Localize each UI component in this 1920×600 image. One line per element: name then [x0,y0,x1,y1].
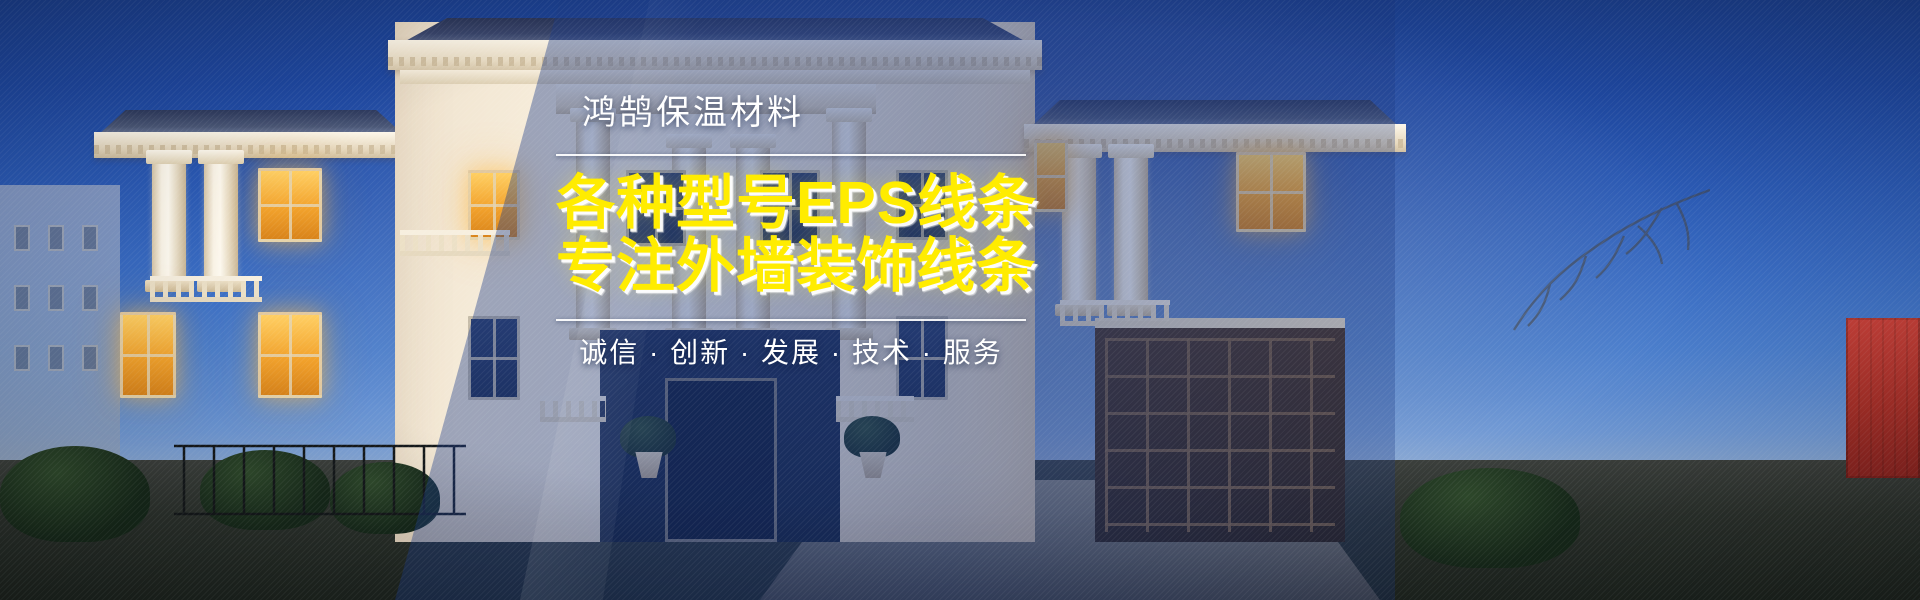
window-lit [1034,140,1068,212]
center-cornice [388,40,1042,70]
brand-name: 鸿鹄保温材料 [556,96,1026,130]
banner-copy: 鸿鹄保温材料 各种型号EPS线条 专注外墙装饰线条 诚信 · 创新 · 发展 ·… [556,96,1026,367]
column [204,162,238,282]
tagline: 诚信 · 创新 · 发展 · 技术 · 服务 [556,339,1026,367]
left-wing-roof [86,110,416,134]
tree-branch [1410,180,1710,360]
iron-fence [170,440,470,520]
planter-shrub [620,416,676,458]
divider-bottom [556,319,1026,321]
garage-door [1095,318,1345,542]
left-wing-cornice [94,132,408,158]
red-container [1846,318,1920,478]
shrub [0,446,150,542]
headline-line-2: 专注外墙装饰线条 [556,235,1026,298]
headline-line-1: 各种型号EPS线条 [556,170,1037,236]
window-lit [1236,152,1306,232]
right-wing-roof [1016,100,1414,126]
center-cornice-lower [400,70,1030,84]
window [468,316,520,400]
column [1114,156,1148,306]
planter-shrub [844,416,900,458]
divider-top [556,154,1026,156]
hero-banner: 鸿鹄保温材料 各种型号EPS线条 专注外墙装饰线条 诚信 · 创新 · 发展 ·… [0,0,1920,600]
entry-door [665,378,777,542]
shrub [1400,468,1580,568]
window-lit [120,312,176,398]
balustrade [540,396,606,422]
window-lit [258,168,322,242]
balustrade [1060,300,1170,326]
window-lit [258,312,322,398]
balustrade [400,230,510,256]
column [152,162,186,282]
balustrade [150,276,262,302]
headline: 各种型号EPS线条 专注外墙装饰线条 [556,172,1026,297]
